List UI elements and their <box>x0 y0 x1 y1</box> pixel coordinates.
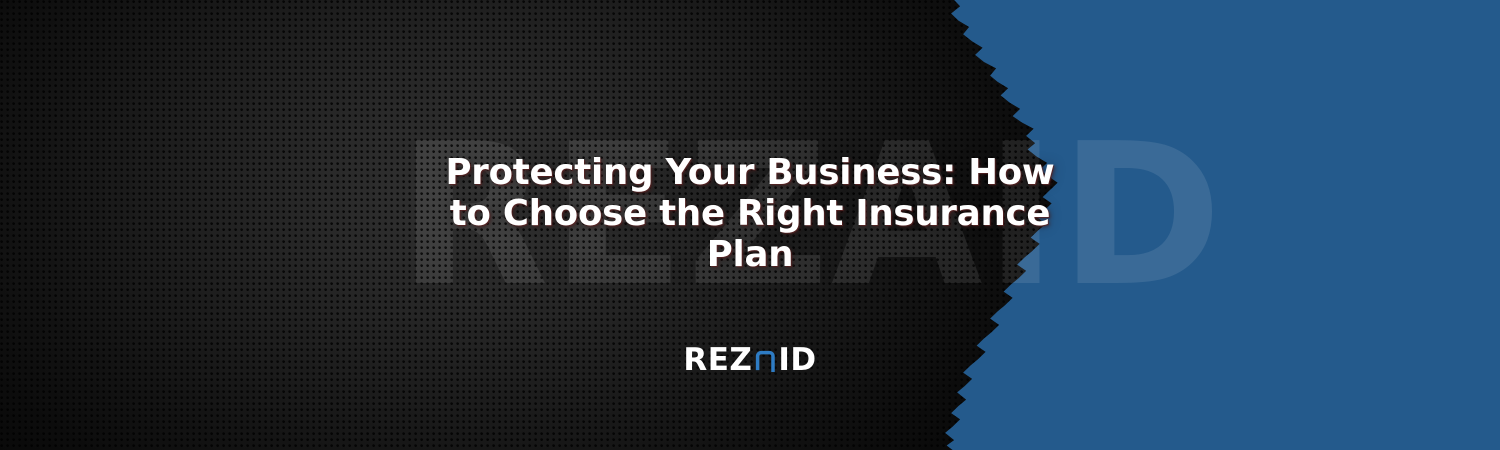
article-hero-banner: REZAID REZAID Protecting Your Business: … <box>0 0 1500 450</box>
rezaid-logo[interactable]: REZ ID <box>683 344 816 376</box>
logo-block: REZ ID <box>0 344 1500 376</box>
logo-prefix-text: REZ <box>683 345 752 376</box>
logo-suffix-text: ID <box>778 345 816 376</box>
page-title: Protecting Your Business: How to Choose … <box>427 152 1073 275</box>
headline-block: Protecting Your Business: How to Choose … <box>0 152 1500 275</box>
logo-accent-a-icon <box>754 349 777 372</box>
